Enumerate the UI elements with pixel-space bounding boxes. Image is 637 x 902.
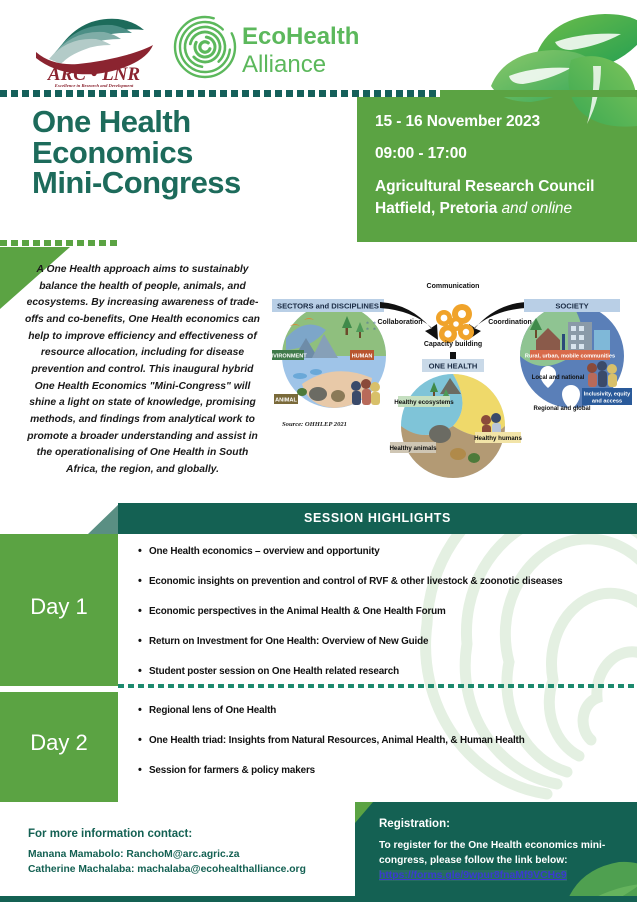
arc-lnr-logo: ARC • LNR Excellence in Research and Dev… xyxy=(22,10,167,88)
title-line-3: Mini-Congress xyxy=(32,168,362,199)
day2-bullet-list: Regional lens of One Health One Health t… xyxy=(138,705,637,795)
dashed-divider-green xyxy=(0,240,120,246)
list-item: One Health economics – overview and oppo… xyxy=(138,546,637,557)
event-venue-online: and online xyxy=(497,200,572,217)
event-times: 09:00 - 17:00 xyxy=(375,145,467,163)
three-leaves-icon xyxy=(487,0,637,130)
session-body: One Health economics – overview and oppo… xyxy=(118,534,637,802)
description-paragraph: A One Health approach aims to sustainabl… xyxy=(25,262,260,479)
svg-text:❄: ❄ xyxy=(366,327,369,331)
svg-text:❄: ❄ xyxy=(373,327,376,331)
diagram-label-coordination: Coordination xyxy=(488,319,532,326)
session-highlights-header: SESSION HIGHLIGHTS xyxy=(118,503,637,534)
diagram-label-communication: Communication xyxy=(427,283,480,290)
contact-person-1: Manana Mamabolo: RanchoM@arc.agric.za xyxy=(28,848,358,863)
diagram-left-title: SECTORS and DISCIPLINES xyxy=(277,302,379,311)
footer-leaf-icon xyxy=(557,840,637,902)
diagram-tag-inclusivity-1: Inclusivity, equity xyxy=(584,392,631,398)
diagram-center-title: ONE HEALTH xyxy=(429,362,478,371)
session-highlights-title: SESSION HIGHLIGHTS xyxy=(118,511,637,525)
diagram-label-collaboration: Collaboration xyxy=(377,319,422,326)
arc-logo-tagline: Excellence in Research and Development xyxy=(54,83,134,88)
diagram-label-capacity: Capacity building xyxy=(424,341,482,348)
page-title: One Health Economics Mini-Congress xyxy=(32,107,362,199)
contact-person-2: Catherine Machalaba: machalaba@ecohealth… xyxy=(28,863,358,878)
one-health-diagram: ❄❄❄❄ SECTORS and DISCIPLINES ENVIRONMENT… xyxy=(272,266,634,488)
registration-panel: Registration: To register for the One He… xyxy=(355,802,637,902)
title-line-1: One Health xyxy=(32,107,362,138)
registration-notch xyxy=(355,802,373,844)
poster-root: ARC • LNR Excellence in Research and Dev… xyxy=(0,0,637,902)
ecohealth-alliance-logo: EcoHealth Alliance xyxy=(172,14,362,80)
svg-text:❄: ❄ xyxy=(373,321,376,325)
diagram-tag-animal: ANIMAL xyxy=(275,398,297,404)
diagram-source: Source: OHHLEP 2021 xyxy=(282,421,347,428)
diagram-tag-human: HUMAN xyxy=(352,354,373,360)
diagram-tag-environment: ENVIRONMENT xyxy=(272,354,307,360)
list-item: Regional lens of One Health xyxy=(138,705,637,716)
diagram-tag-ecosystems: Healthy ecosystems xyxy=(394,399,454,406)
list-item: Economic insights on prevention and cont… xyxy=(138,576,637,587)
day2-label: Day 2 xyxy=(0,730,118,756)
list-item: Session for farmers & policy makers xyxy=(138,765,637,776)
diagram-tag-humans: Healthy humans xyxy=(474,435,522,442)
solid-divider-top xyxy=(440,90,637,97)
contact-block: For more information contact: Manana Mam… xyxy=(28,828,358,878)
svg-text:❄: ❄ xyxy=(366,321,369,325)
list-item: Student poster session on One Health rel… xyxy=(138,666,637,677)
bottom-strip xyxy=(0,896,637,902)
diagram-tag-communities: Rural, urban, mobile communities xyxy=(525,354,615,360)
registration-link[interactable]: https://forms.gle/9wpur8fnaMf9VCHc9 xyxy=(379,870,567,881)
day1-label-panel: Day 1 xyxy=(0,534,118,686)
eha-line1: EcoHealth xyxy=(242,23,359,50)
diagram-tag-local: Local and national xyxy=(532,375,585,381)
event-venue-line1: Agricultural Research Council xyxy=(375,178,594,196)
registration-heading: Registration: xyxy=(379,818,450,830)
day-separator-dashed xyxy=(118,684,637,688)
list-item: One Health triad: Insights from Natural … xyxy=(138,735,637,746)
arc-logo-text: ARC • LNR xyxy=(47,64,140,85)
logo-bar: ARC • LNR Excellence in Research and Dev… xyxy=(0,0,637,90)
day2-label-panel: Day 2 xyxy=(0,692,118,802)
diagram-tag-inclusivity-2: and access xyxy=(592,399,622,405)
dashed-divider-top xyxy=(0,90,440,97)
list-item: Economic perspectives in the Animal Heal… xyxy=(138,606,637,617)
event-venue-city: Hatfield, Pretoria xyxy=(375,200,497,217)
contact-heading: For more information contact: xyxy=(28,828,358,840)
title-line-2: Economics xyxy=(32,138,362,169)
day1-label: Day 1 xyxy=(0,594,118,620)
diagram-tag-animals: Healthy animals xyxy=(389,445,437,452)
eha-line2: Alliance xyxy=(242,51,326,78)
day1-bullet-list: One Health economics – overview and oppo… xyxy=(138,546,637,696)
list-item: Return on Investment for One Health: Ove… xyxy=(138,636,637,647)
diagram-tag-regional: Regional and global xyxy=(533,406,590,412)
event-venue-line2: Hatfield, Pretoria and online xyxy=(375,200,572,218)
diagram-right-title: SOCIETY xyxy=(555,302,588,311)
session-header-notch xyxy=(88,503,120,534)
